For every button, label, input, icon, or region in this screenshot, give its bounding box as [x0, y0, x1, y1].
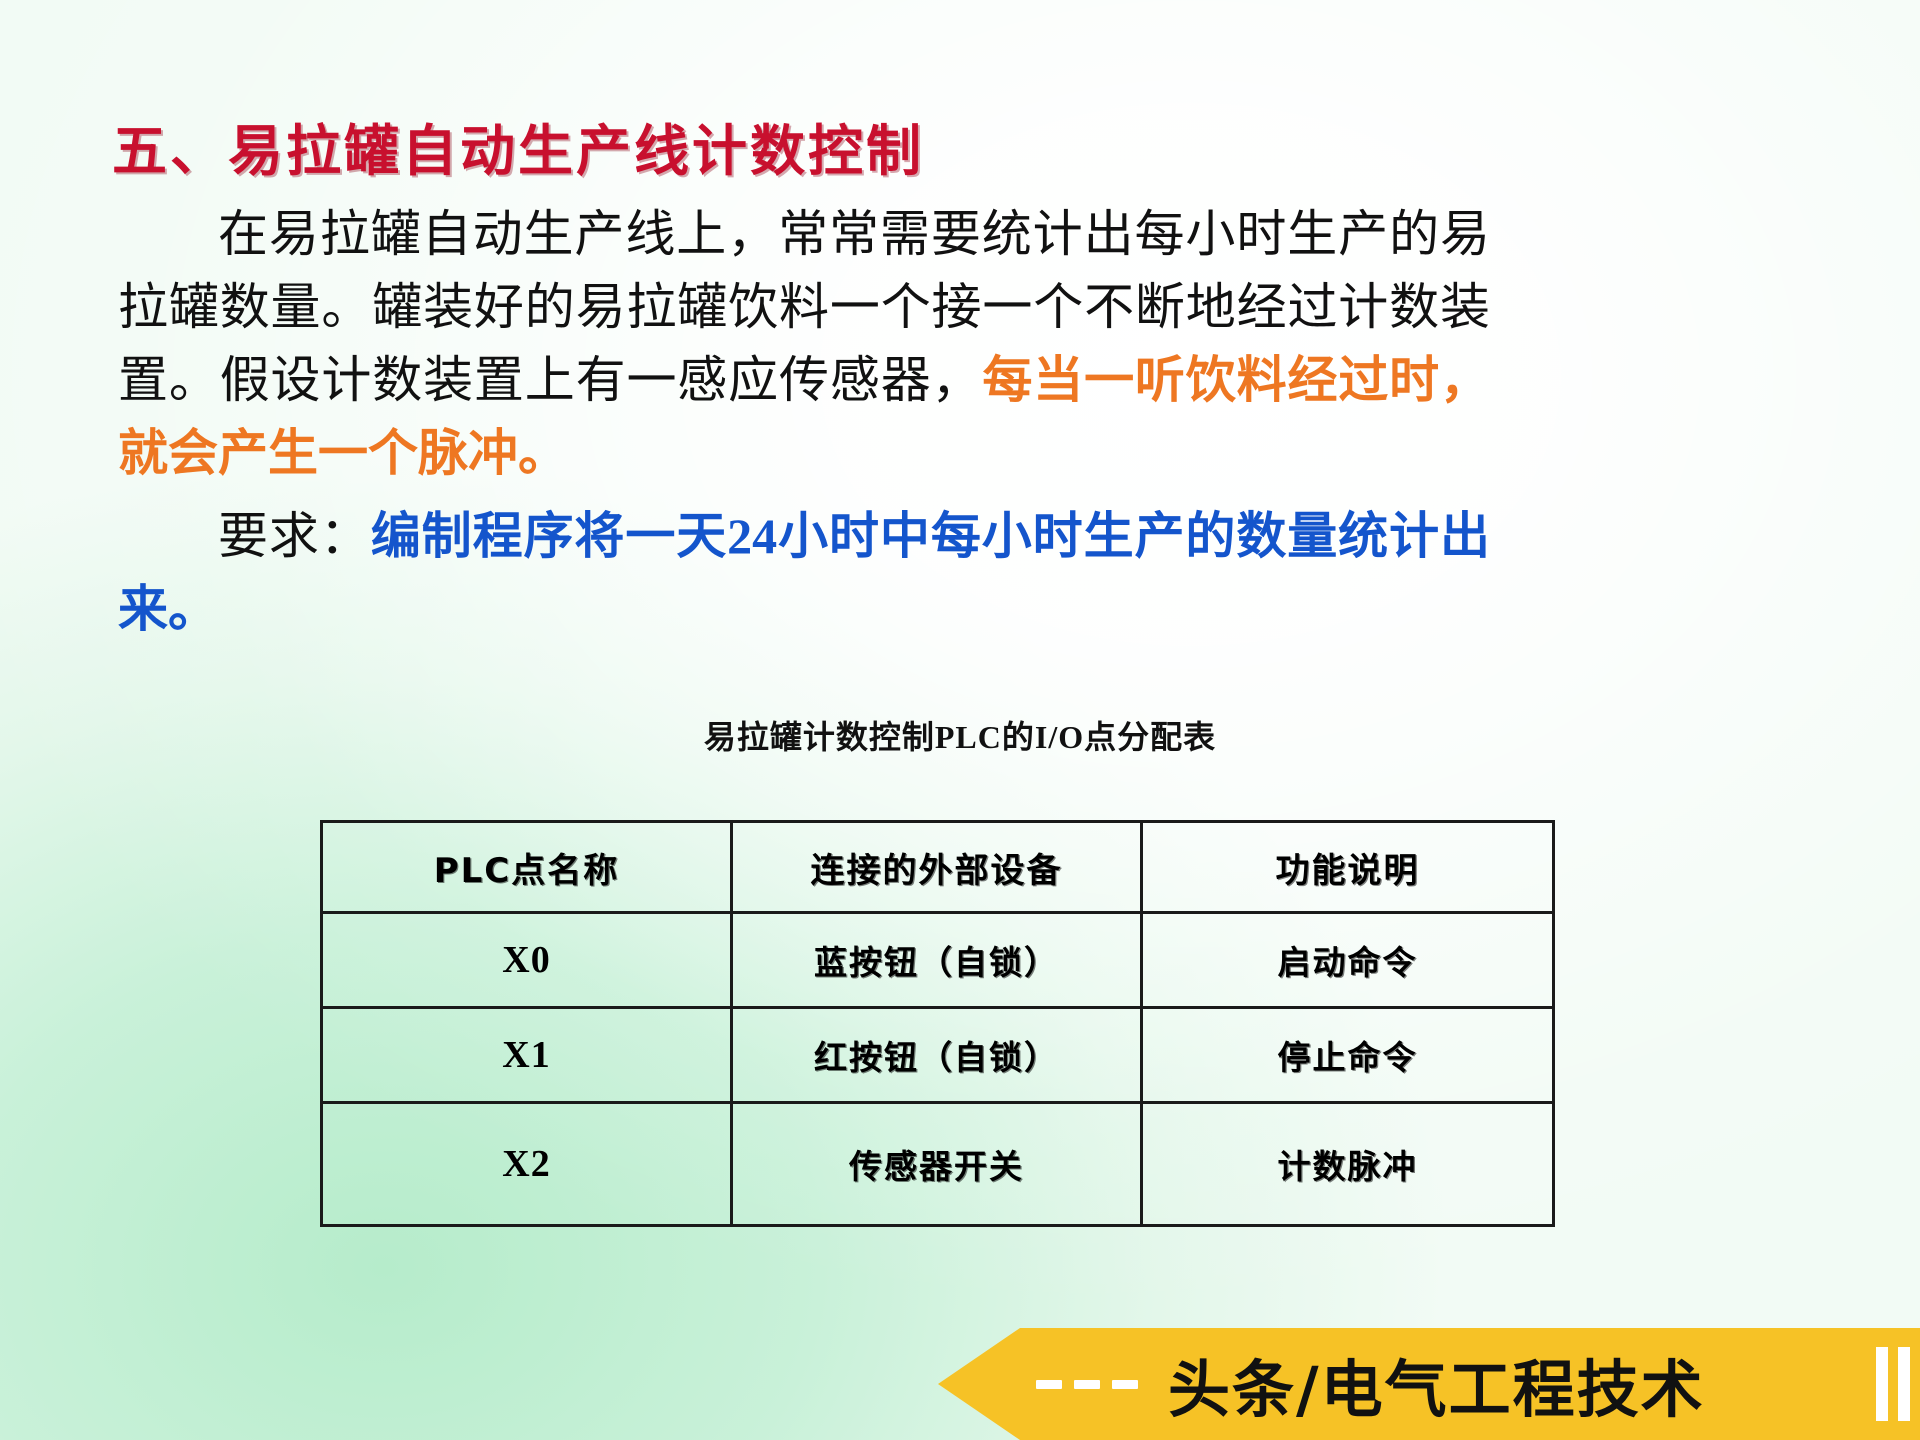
body-text-block: 在易拉罐自动生产线上，常常需要统计出每小时生产的易拉罐数量。罐装好的易拉罐饮料一… [118, 198, 1490, 646]
cell-plc-point: X2 [322, 1103, 732, 1226]
slide-canvas: 五、易拉罐自动生产线计数控制 在易拉罐自动生产线上，常常需要统计出每小时生产的易… [0, 0, 1920, 1440]
cell-function: 停止命令 [1142, 1008, 1554, 1103]
cell-external-device: 红按钮（自锁） [732, 1008, 1142, 1103]
dash-icon [1074, 1380, 1100, 1389]
table-header-external-device: 连接的外部设备 [732, 822, 1142, 913]
cell-plc-point: X0 [322, 913, 732, 1008]
banner-label: 头条/电气工程技术 [1168, 1339, 1705, 1429]
page-title: 五、易拉罐自动生产线计数控制 [112, 120, 924, 182]
banner-arrow-shape [938, 1328, 1020, 1440]
cell-external-device: 传感器开关 [732, 1103, 1142, 1226]
dash-icon [1036, 1380, 1062, 1389]
cell-external-device: 蓝按钮（自锁） [732, 913, 1142, 1008]
tail-bar-icon [1898, 1347, 1910, 1421]
cell-function: 启动命令 [1142, 913, 1554, 1008]
table-header-plc-point: PLC点名称 [322, 822, 732, 913]
watermark-banner: 头条/电气工程技术 [1020, 1328, 1920, 1440]
table-row: X2 传感器开关 计数脉冲 [322, 1103, 1554, 1226]
banner-dashes [1036, 1380, 1150, 1389]
table-row: X1 红按钮（自锁） 停止命令 [322, 1008, 1554, 1103]
table-header-function: 功能说明 [1142, 822, 1554, 913]
table-caption: 易拉罐计数控制PLC的I/O点分配表 [0, 712, 1920, 758]
tail-bar-icon [1876, 1347, 1888, 1421]
paragraph-description: 在易拉罐自动生产线上，常常需要统计出每小时生产的易拉罐数量。罐装好的易拉罐饮料一… [118, 198, 1490, 490]
banner-tail-bars [1866, 1347, 1920, 1421]
cell-plc-point: X1 [322, 1008, 732, 1103]
cell-function: 计数脉冲 [1142, 1103, 1554, 1226]
requirement-label: 要求： [218, 508, 371, 564]
dash-icon [1112, 1380, 1138, 1389]
table-row: X0 蓝按钮（自锁） 启动命令 [322, 913, 1554, 1008]
io-allocation-table: PLC点名称 连接的外部设备 功能说明 X0 蓝按钮（自锁） 启动命令 X1 红… [320, 820, 1555, 1227]
paragraph-requirement: 要求：编制程序将一天24小时中每小时生产的数量统计出来。 [118, 500, 1490, 646]
table-header-row: PLC点名称 连接的外部设备 功能说明 [322, 822, 1554, 913]
